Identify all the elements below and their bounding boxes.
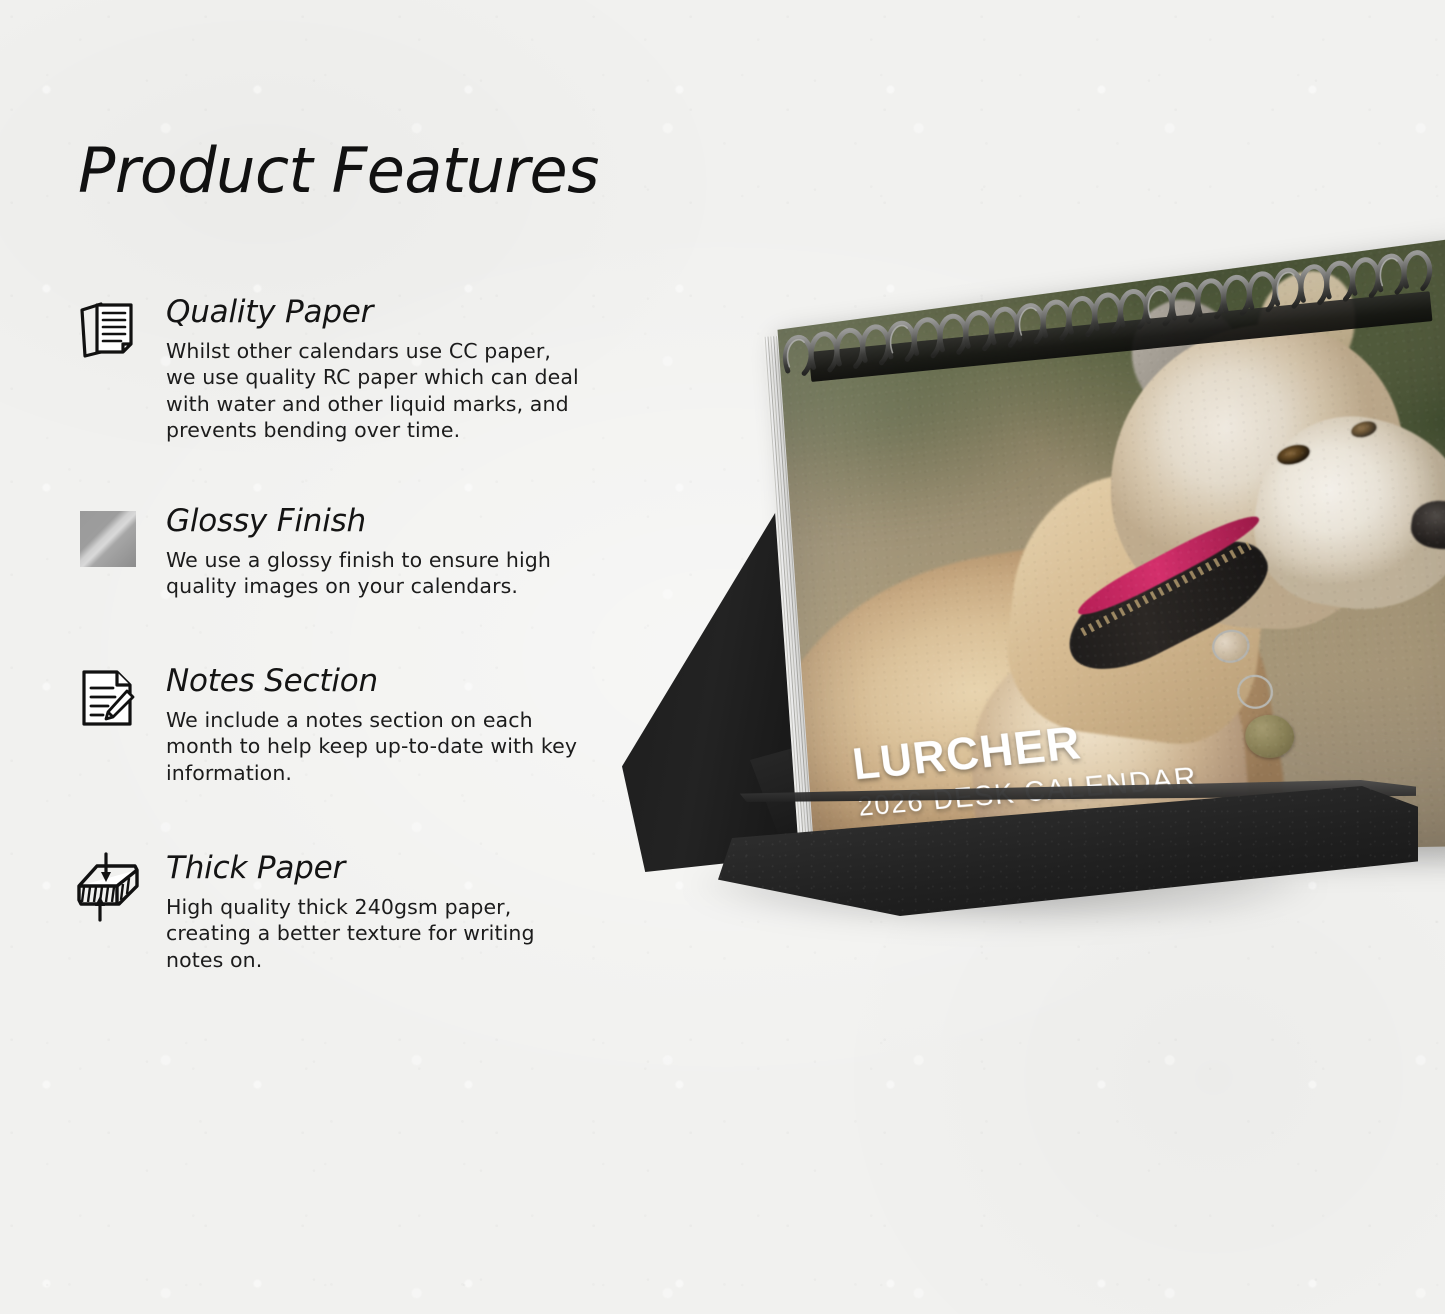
feature-body: Thick Paper High quality thick 240gsm pa… <box>166 852 632 973</box>
feature-title: Quality Paper <box>166 296 632 329</box>
feature-body: Quality Paper Whilst other calendars use… <box>166 296 632 444</box>
feature-body: Notes Section We include a notes section… <box>166 665 632 786</box>
stacked-documents-icon <box>72 296 144 368</box>
desc-line: notes on. <box>166 947 618 974</box>
features-column: Product Features <box>0 0 640 1314</box>
desc-line: Whilst other calendars use CC paper, <box>166 338 618 365</box>
feature-title: Glossy Finish <box>166 505 632 538</box>
feature-title: Notes Section <box>166 665 632 698</box>
feature-title: Thick Paper <box>166 852 632 885</box>
feature-item-notes-section: Notes Section We include a notes section… <box>72 665 632 786</box>
feature-body: Glossy Finish We use a glossy finish to … <box>166 505 632 600</box>
feature-item-quality-paper: Quality Paper Whilst other calendars use… <box>72 296 632 444</box>
desk-calendar-mockup: LURCHER 2026 DESK CALENDAR <box>600 300 1420 980</box>
feature-description: Whilst other calendars use CC paper, we … <box>166 338 618 445</box>
gloss-swatch-icon <box>72 505 144 577</box>
desc-line: We use a glossy finish to ensure high <box>166 547 618 574</box>
desc-line: quality images on your calendars. <box>166 573 618 600</box>
feature-item-thick-paper: Thick Paper High quality thick 240gsm pa… <box>72 852 632 973</box>
desc-line: creating a better texture for writing <box>166 920 618 947</box>
feature-description: High quality thick 240gsm paper, creatin… <box>166 894 618 974</box>
note-and-pencil-icon <box>72 665 144 737</box>
desc-line: We include a notes section on each <box>166 707 618 734</box>
desc-line: prevents bending over time. <box>166 417 618 444</box>
desc-line: month to help keep up-to-date with key <box>166 733 618 760</box>
desc-line: information. <box>166 760 618 787</box>
feature-item-glossy-finish: Glossy Finish We use a glossy finish to … <box>72 505 632 600</box>
product-features-page: Product Features <box>0 0 1445 1314</box>
desc-line: High quality thick 240gsm paper, <box>166 894 618 921</box>
desc-line: with water and other liquid marks, and <box>166 391 618 418</box>
desc-line: we use quality RC paper which can deal <box>166 364 618 391</box>
page-title: Product Features <box>78 134 599 207</box>
paper-thickness-icon <box>72 852 144 924</box>
feature-description: We use a glossy finish to ensure high qu… <box>166 547 618 600</box>
feature-description: We include a notes section on each month… <box>166 707 618 787</box>
